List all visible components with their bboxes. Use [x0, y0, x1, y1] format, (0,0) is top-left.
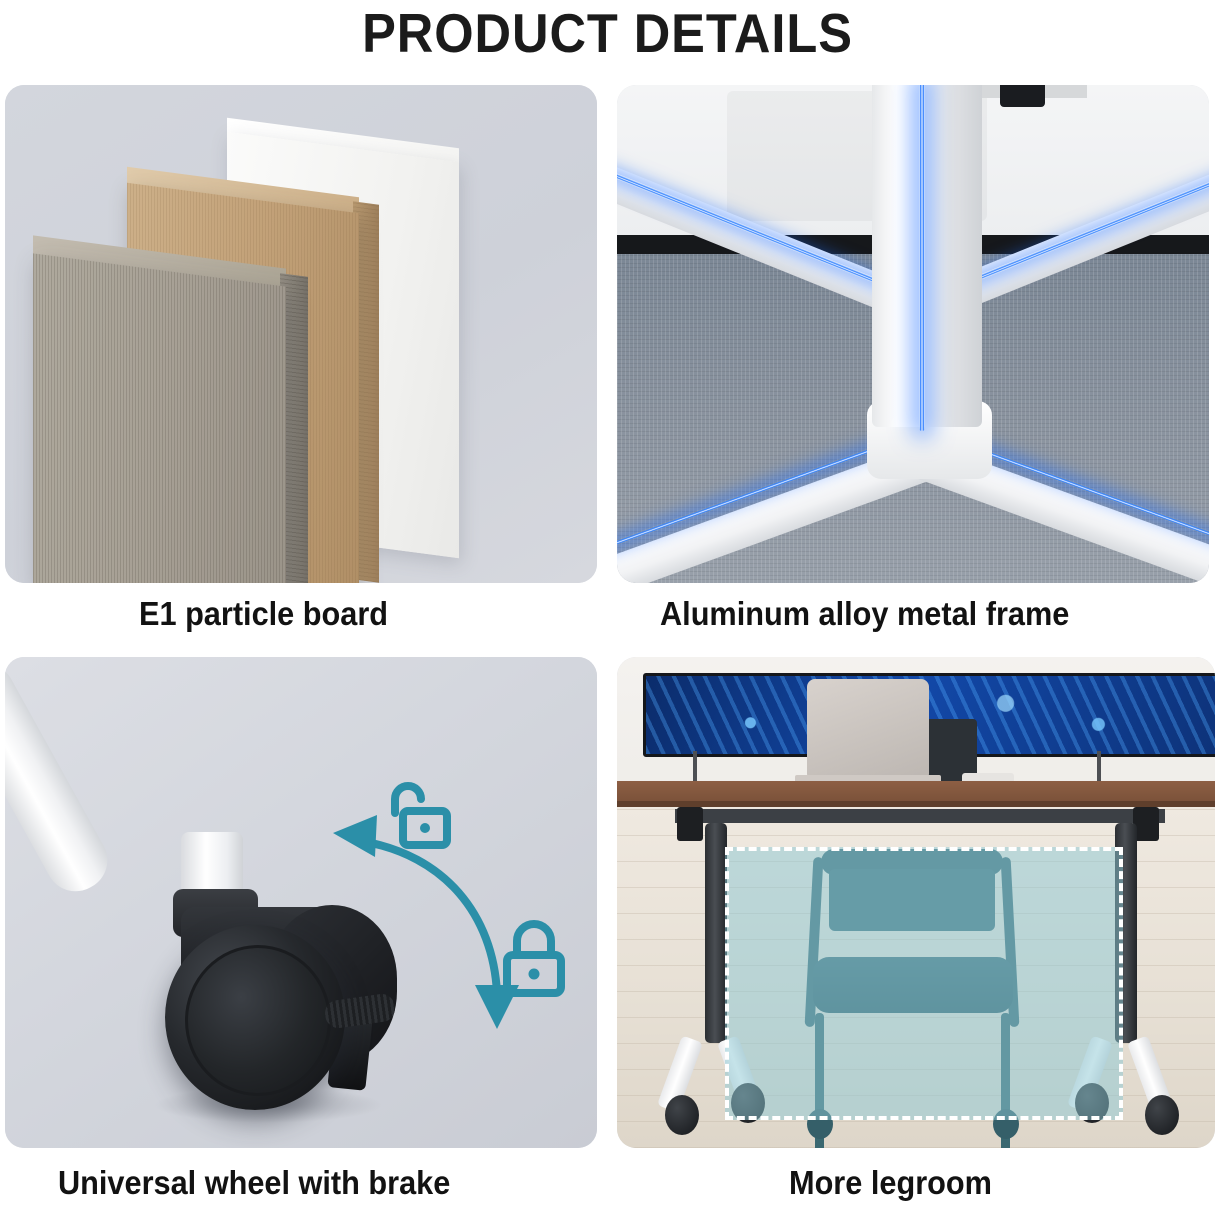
- blue-glow-column: [919, 85, 925, 431]
- caption-particle-board: E1 particle board: [139, 586, 388, 642]
- card-particle-board: [5, 85, 597, 583]
- desk-bracket-left: [677, 807, 703, 841]
- laptop: [807, 679, 929, 777]
- desk-clamp: [1000, 85, 1045, 107]
- desk-leg-left: [705, 823, 727, 1043]
- card-more-legroom: [617, 657, 1215, 1148]
- desk-top-edge: [617, 801, 1215, 807]
- page-title: PRODUCT DETAILS: [49, 0, 1167, 66]
- desk-beam: [675, 809, 1165, 823]
- caption-metal-frame: Aluminum alloy metal frame: [660, 586, 1069, 642]
- caption-more-legroom: More legroom: [789, 1155, 992, 1211]
- desk-caster-front-left: [665, 1095, 699, 1135]
- desk-top: [617, 781, 1215, 803]
- legroom-highlight-area: [725, 847, 1123, 1120]
- card-universal-wheel: [5, 657, 597, 1148]
- product-details-page: PRODUCT DETAILS E1 particle board Alumin…: [0, 0, 1215, 1205]
- board-sample-gray: [33, 253, 286, 583]
- card-metal-frame: [617, 85, 1209, 583]
- desk-caster-front-right: [1145, 1095, 1179, 1135]
- caption-universal-wheel: Universal wheel with brake: [58, 1155, 450, 1211]
- frame-column: [872, 85, 982, 427]
- caster-wheel-hubcap: [185, 945, 331, 1096]
- curved-arrow-icon: [325, 797, 535, 1047]
